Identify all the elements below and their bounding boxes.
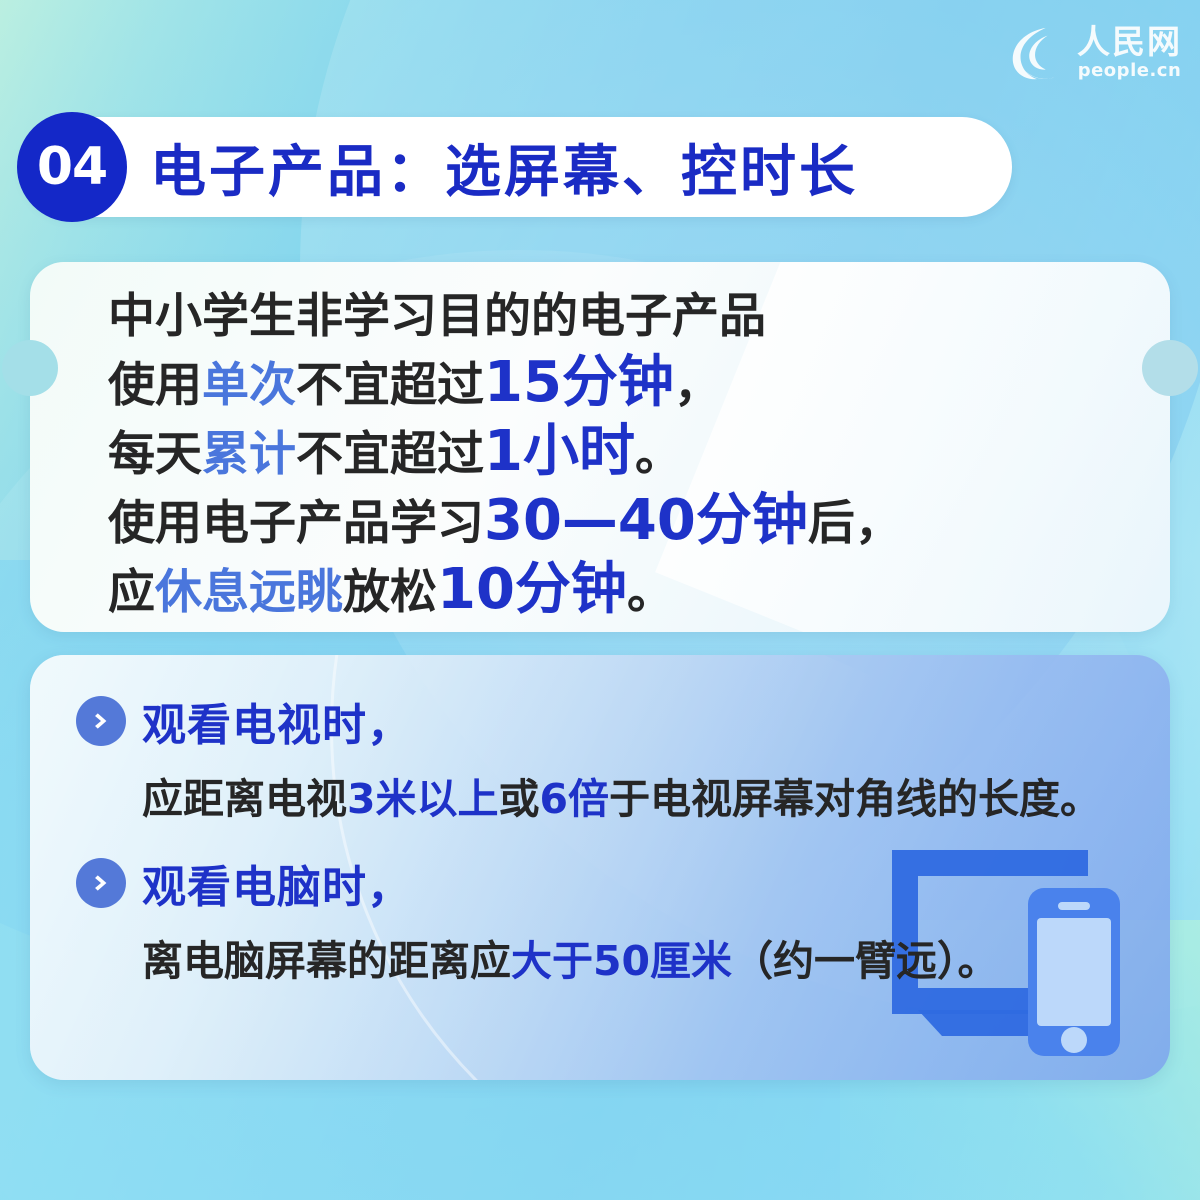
info-card: 中小学生非学习目的的电子产品使用单次不宜超过15分钟，每天累计不宜超过1小时。使… [30, 262, 1170, 632]
tip-text-segment: （约一臂远）。 [732, 937, 999, 985]
info-line: 使用电子产品学习30—40分钟后， [108, 488, 1130, 557]
brand-name-en: people.cn [1078, 60, 1182, 82]
info-text-segment: 后， [808, 496, 902, 551]
info-card-text: 中小学生非学习目的的电子产品使用单次不宜超过15分钟，每天累计不宜超过1小时。使… [30, 262, 1170, 632]
chevron-right-icon [76, 696, 126, 746]
page-title: 电子产品：选屏幕、控时长 [150, 127, 858, 208]
tip-text-segment: 离电脑屏幕的距离应 [142, 937, 511, 985]
section-number-badge: 04 [17, 112, 127, 222]
tip-heading: 观看电视时， [142, 689, 412, 753]
section-title-bar: 04 电子产品：选屏幕、控时长 [22, 117, 1012, 217]
tip-heading-row: 观看电视时， [76, 689, 1130, 753]
info-text-segment: 使用 [108, 358, 202, 413]
info-text-segment: 单次 [202, 358, 296, 413]
tip-detail: 应距离电视3米以上或6倍于电视屏幕对角线的长度。 [142, 765, 1130, 825]
info-text-segment: 中小学生非学习目的的电子产品 [108, 289, 766, 344]
people-cn-logo-icon [1005, 22, 1067, 84]
tip-text-segment: 或 [499, 775, 540, 823]
info-text-segment: 不宜超过 [296, 358, 484, 413]
tip-heading: 观看电脑时， [142, 851, 412, 915]
info-text-segment: 1小时 [484, 419, 635, 484]
info-line: 中小学生非学习目的的电子产品 [108, 284, 1130, 350]
info-line: 每天累计不宜超过1小时。 [108, 419, 1130, 488]
brand-logo-text: 人民网 people.cn [1077, 25, 1182, 81]
info-line: 应休息远眺放松10分钟。 [108, 557, 1130, 626]
info-text-segment: 休息远眺 [155, 565, 343, 620]
info-text-segment: 累计 [202, 427, 296, 482]
chevron-right-icon [76, 858, 126, 908]
info-text-segment: 15分钟 [484, 350, 674, 415]
tips-card-content: 观看电视时，应距离电视3米以上或6倍于电视屏幕对角线的长度。观看电脑时，离电脑屏… [30, 655, 1170, 1080]
infographic-poster: 人民网 people.cn 04 电子产品：选屏幕、控时长 中小学生非学习目的的… [0, 0, 1200, 1200]
tip-detail: 离电脑屏幕的距离应大于50厘米（约一臂远）。 [142, 927, 1130, 987]
brand-logo: 人民网 people.cn [1005, 22, 1182, 84]
info-text-segment: 。 [627, 565, 674, 620]
tip-item: 观看电视时，应距离电视3米以上或6倍于电视屏幕对角线的长度。 [76, 689, 1130, 825]
info-text-segment: 使用电子产品学习 [108, 496, 484, 551]
info-text-segment: 不宜超过 [296, 427, 484, 482]
info-text-segment: ， [674, 358, 721, 413]
info-text-segment: 30—40分钟 [484, 488, 808, 553]
brand-name-cn: 人民网 [1077, 25, 1182, 60]
tip-text-segment: 3米以上 [347, 775, 499, 823]
info-text-segment: 应 [108, 565, 155, 620]
tip-text-segment: 大于50厘米 [511, 937, 732, 985]
tip-text-segment: 应距离电视 [142, 775, 347, 823]
info-text-segment: 放松 [343, 565, 437, 620]
info-line: 使用单次不宜超过15分钟， [108, 350, 1130, 419]
tip-text-segment: 于电视屏幕对角线的长度。 [609, 775, 1101, 823]
info-text-segment: 。 [635, 427, 682, 482]
info-text-segment: 10分钟 [437, 557, 627, 622]
info-text-segment: 每天 [108, 427, 202, 482]
tip-item: 观看电脑时，离电脑屏幕的距离应大于50厘米（约一臂远）。 [76, 851, 1130, 987]
tip-heading-row: 观看电脑时， [76, 851, 1130, 915]
tips-card: 观看电视时，应距离电视3米以上或6倍于电视屏幕对角线的长度。观看电脑时，离电脑屏… [30, 655, 1170, 1080]
tip-text-segment: 6倍 [540, 775, 610, 823]
